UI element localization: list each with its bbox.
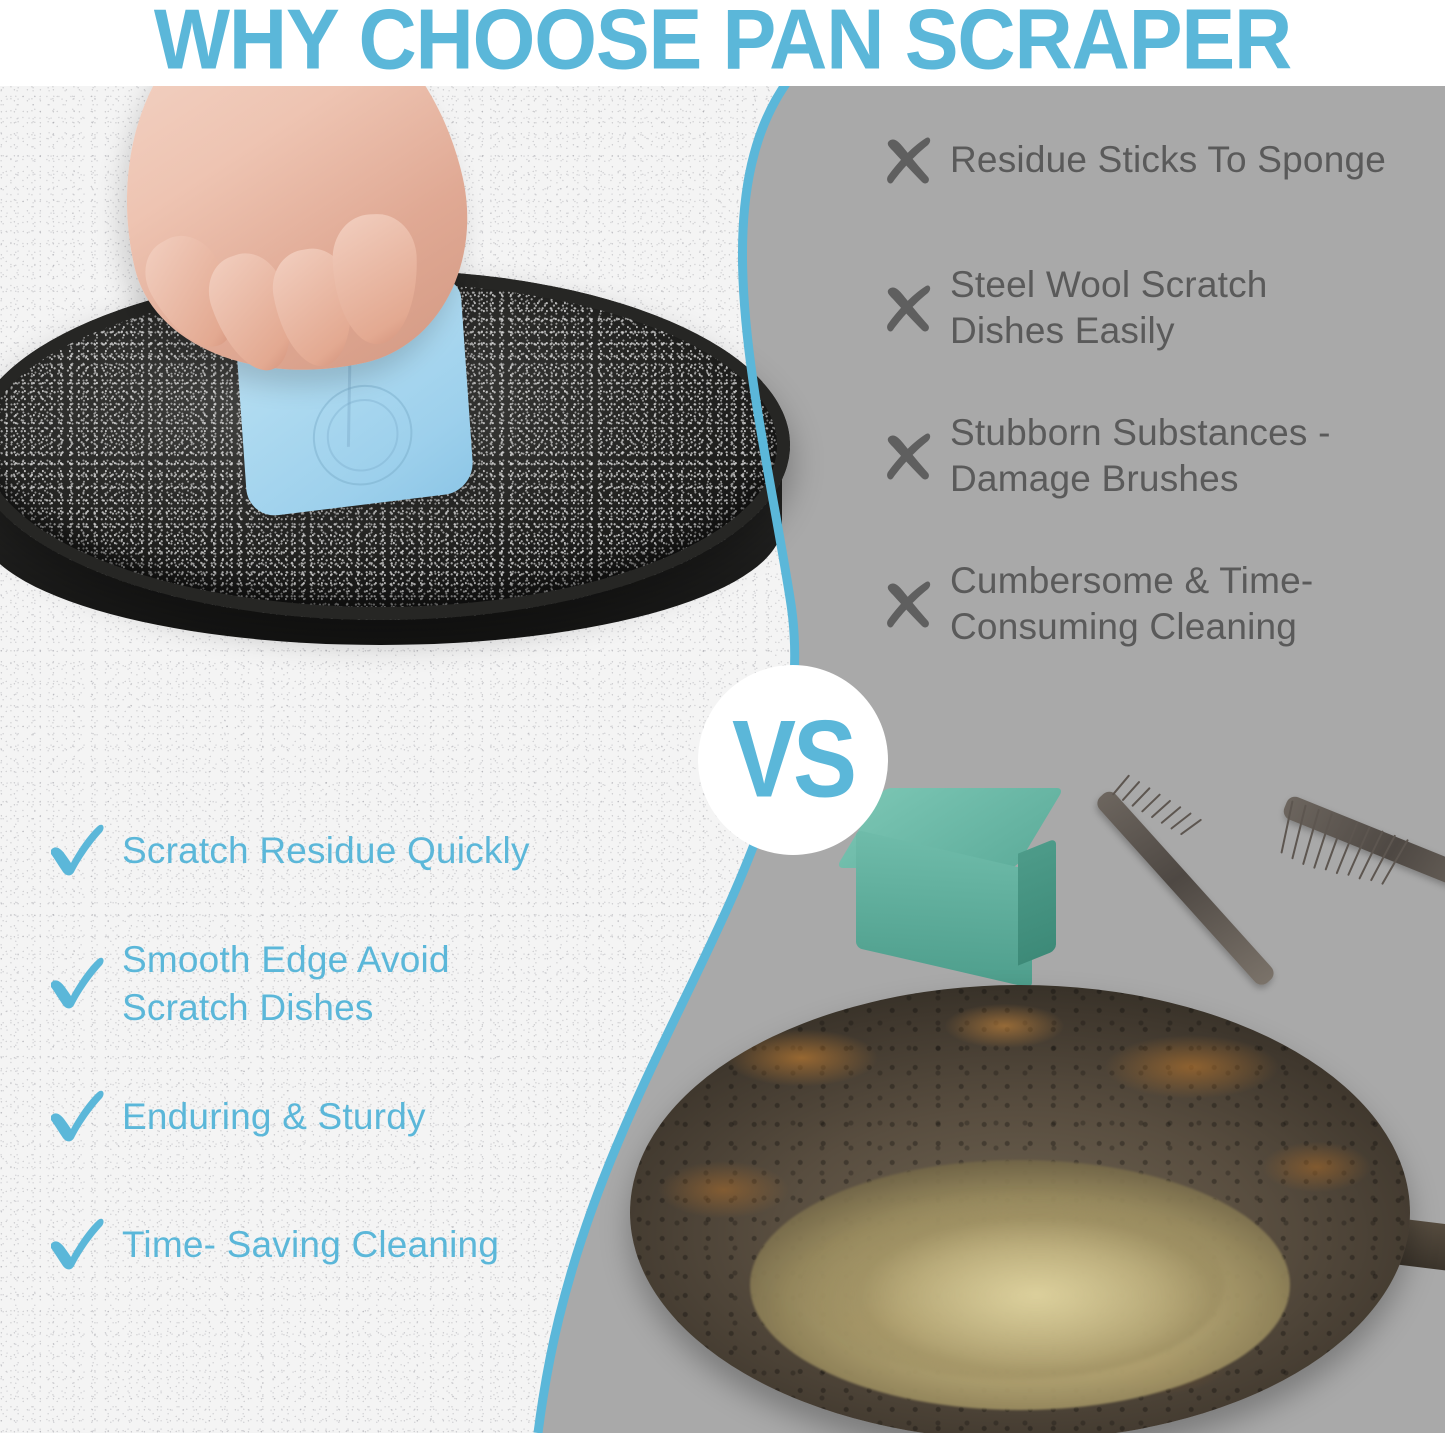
- sponge-side: [1018, 838, 1056, 965]
- check-mark-icon: [48, 822, 106, 880]
- wire-brush-2: [1270, 760, 1445, 990]
- list-item-line: Dishes Easily: [950, 308, 1268, 354]
- list-item-line: Scratch Residue Quickly: [122, 827, 530, 875]
- x-mark-icon: [880, 576, 936, 632]
- list-item: Scratch Residue Quickly: [48, 808, 628, 894]
- scraper-logo-emboss: [310, 379, 416, 491]
- list-item: Stubborn Substances - Damage Brushes: [880, 406, 1440, 506]
- list-item: Steel Wool Scratch Dishes Easily: [880, 258, 1440, 358]
- list-item-line: Damage Brushes: [950, 456, 1331, 502]
- list-item: Residue Sticks To Sponge: [880, 110, 1440, 210]
- list-item-text: Stubborn Substances - Damage Brushes: [950, 410, 1331, 502]
- check-mark-icon: [48, 955, 106, 1013]
- product-comparison-infographic: Residue Sticks To Sponge Steel Wool Scra…: [0, 0, 1445, 1433]
- list-item-text: Scratch Residue Quickly: [122, 827, 530, 875]
- list-item-line: Smooth Edge Avoid: [122, 936, 450, 984]
- list-item: Smooth Edge Avoid Scratch Dishes: [48, 936, 628, 1032]
- burnt-residue-highlight: [805, 1190, 1225, 1380]
- check-mark-icon: [48, 1088, 106, 1146]
- title-band: WHY CHOOSE PAN SCRAPER: [0, 0, 1445, 86]
- list-item-line: Scratch Dishes: [122, 984, 450, 1032]
- x-mark-icon: [880, 428, 936, 484]
- list-item-line: Enduring & Sturdy: [122, 1093, 426, 1141]
- list-item: Cumbersome & Time- Consuming Cleaning: [880, 554, 1440, 654]
- x-mark-icon: [880, 132, 936, 188]
- rusty-pan-photo: [610, 985, 1445, 1433]
- list-item-text: Time- Saving Cleaning: [122, 1221, 499, 1269]
- list-item-text: Smooth Edge Avoid Scratch Dishes: [122, 936, 450, 1032]
- vs-label: VS: [698, 652, 888, 869]
- rusty-pan-body: [630, 985, 1410, 1433]
- list-item-text: Residue Sticks To Sponge: [950, 137, 1386, 183]
- brush-bristles: [1116, 770, 1246, 840]
- list-item-line: Steel Wool Scratch: [950, 262, 1268, 308]
- list-item-text: Steel Wool Scratch Dishes Easily: [950, 262, 1268, 354]
- vs-badge: VS: [698, 665, 888, 855]
- x-mark-icon: [880, 280, 936, 336]
- pros-list: Scratch Residue Quickly Smooth Edge Avoi…: [48, 808, 628, 1330]
- list-item-line: Stubborn Substances -: [950, 410, 1331, 456]
- brush-bristles: [1280, 794, 1445, 904]
- page-title: WHY CHOOSE PAN SCRAPER: [0, 0, 1445, 86]
- list-item: Time- Saving Cleaning: [48, 1202, 628, 1288]
- pan-scraper-photo: [0, 230, 830, 660]
- list-item-text: Enduring & Sturdy: [122, 1093, 426, 1141]
- list-item-line: Residue Sticks To Sponge: [950, 137, 1386, 183]
- list-item-line: Cumbersome & Time-: [950, 558, 1313, 604]
- list-item: Enduring & Sturdy: [48, 1074, 628, 1160]
- competing-tools-photo: [840, 750, 1445, 1000]
- check-mark-icon: [48, 1216, 106, 1274]
- list-item-line: Consuming Cleaning: [950, 604, 1313, 650]
- list-item-line: Time- Saving Cleaning: [122, 1221, 499, 1269]
- cons-list: Residue Sticks To Sponge Steel Wool Scra…: [880, 110, 1440, 702]
- list-item-text: Cumbersome & Time- Consuming Cleaning: [950, 558, 1313, 650]
